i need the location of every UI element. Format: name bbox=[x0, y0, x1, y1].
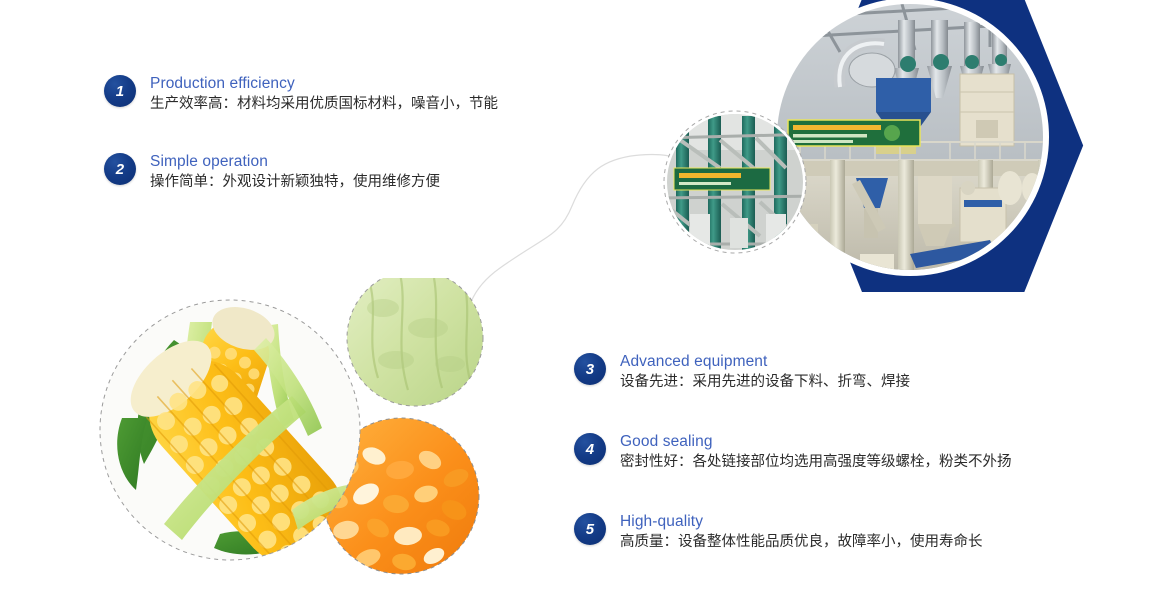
corn-photo-group bbox=[78, 278, 498, 591]
corn-grits-photo bbox=[322, 418, 479, 574]
feature-text-4: Good sealing 密封性好：各处链接部位均选用高强度等级螺栓，粉类不外扬 bbox=[620, 432, 1012, 473]
hexagon-photo-group bbox=[660, 0, 1154, 292]
feature-number-1: 1 bbox=[104, 75, 136, 107]
feature-number-3: 3 bbox=[574, 353, 606, 385]
feature-desc-3: 设备先进：采用先进的设备下料、折弯、焊接 bbox=[620, 372, 910, 393]
feature-item-3[interactable]: 3 Advanced equipment 设备先进：采用先进的设备下料、折弯、焊… bbox=[574, 352, 910, 393]
feature-badge-3: 3 bbox=[574, 353, 606, 385]
corn-cob-photo bbox=[100, 299, 368, 585]
feature-desc-5: 高质量：设备整体性能品质优良，故障率小，使用寿命长 bbox=[620, 532, 983, 553]
feature-item-4[interactable]: 4 Good sealing 密封性好：各处链接部位均选用高强度等级螺栓，粉类不… bbox=[574, 432, 1012, 473]
feature-title-1: Production efficiency bbox=[150, 74, 498, 93]
feature-desc-1: 生产效率高：材料均采用优质国标材料，噪音小，节能 bbox=[150, 94, 498, 115]
dashed-outline-small-circle bbox=[664, 111, 806, 253]
corn-processing-line-photo bbox=[660, 110, 820, 260]
flour-milling-plant-photo bbox=[770, 0, 1060, 292]
feature-badge-5: 5 bbox=[574, 513, 606, 545]
feature-title-5: High-quality bbox=[620, 512, 983, 531]
feature-text-1: Production efficiency 生产效率高：材料均采用优质国标材料，… bbox=[150, 74, 498, 115]
dashed-outline-corn-circle bbox=[100, 300, 360, 560]
feature-badge-4: 4 bbox=[574, 433, 606, 465]
feature-desc-2: 操作简单：外观设计新颖独特，使用维修方便 bbox=[150, 172, 440, 193]
feature-title-4: Good sealing bbox=[620, 432, 1012, 451]
feature-title-2: Simple operation bbox=[150, 152, 440, 171]
feature-desc-4: 密封性好：各处链接部位均选用高强度等级螺栓，粉类不外扬 bbox=[620, 452, 1012, 473]
feature-number-2: 2 bbox=[104, 153, 136, 185]
feature-badge-1: 1 bbox=[104, 75, 136, 107]
dashed-outline-paste-circle bbox=[347, 278, 483, 406]
feature-number-5: 5 bbox=[574, 513, 606, 545]
dashed-outline-grits-circle bbox=[323, 418, 479, 574]
feature-item-2[interactable]: 2 Simple operation 操作简单：外观设计新颖独特，使用维修方便 bbox=[104, 152, 440, 193]
feature-text-2: Simple operation 操作简单：外观设计新颖独特，使用维修方便 bbox=[150, 152, 440, 193]
feature-text-3: Advanced equipment 设备先进：采用先进的设备下料、折弯、焊接 bbox=[620, 352, 910, 393]
feature-title-3: Advanced equipment bbox=[620, 352, 910, 371]
feature-badge-2: 2 bbox=[104, 153, 136, 185]
feature-text-5: High-quality 高质量：设备整体性能品质优良，故障率小，使用寿命长 bbox=[620, 512, 983, 553]
feature-number-4: 4 bbox=[574, 433, 606, 465]
corn-paste-photo bbox=[347, 278, 483, 406]
feature-item-1[interactable]: 1 Production efficiency 生产效率高：材料均采用优质国标材… bbox=[104, 74, 498, 115]
feature-item-5[interactable]: 5 High-quality 高质量：设备整体性能品质优良，故障率小，使用寿命长 bbox=[574, 512, 983, 553]
infographic-canvas: 1 Production efficiency 生产效率高：材料均采用优质国标材… bbox=[0, 0, 1154, 591]
